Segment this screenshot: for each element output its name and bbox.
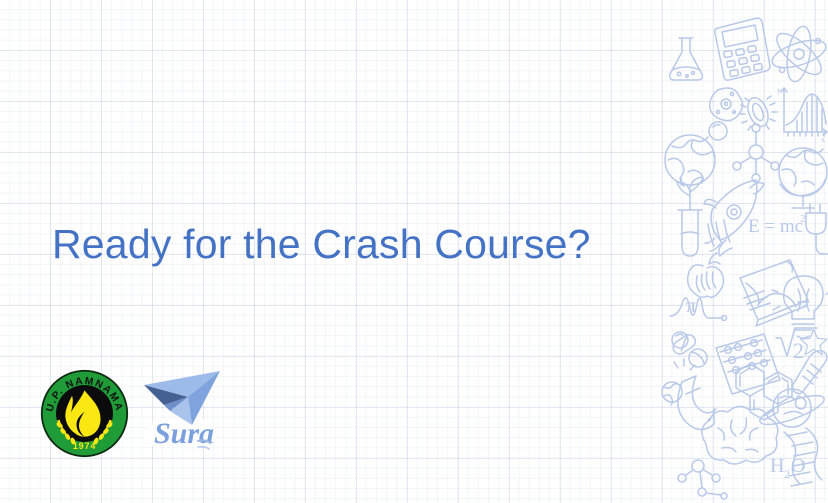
bell-curve-graph-icon: y x [777,86,827,144]
molecule-icon [733,124,779,182]
plug-icon [806,204,828,254]
svg-text:x: x [821,135,825,144]
doodle-strip-svg: y x [660,0,828,503]
test-tube-plant-icon [677,177,703,256]
emc2-formula-icon: E = mc 2 [748,213,806,237]
svg-text:H: H [770,455,784,477]
flask-icon [670,38,703,80]
seal-year-text: 1974 [73,441,96,451]
science-doodle-strip: y x [660,0,828,503]
sura-wordmark: Sura [154,417,214,450]
ecg-heartbeat-icon [670,298,727,321]
bubble-icon [709,122,727,140]
amoeba-icon [710,88,743,121]
atom-icon [769,25,828,84]
svg-text:E = mc: E = mc [748,216,803,237]
svg-text:y: y [777,86,781,95]
globe-icon [665,135,715,186]
slide-canvas: Ready for the Crash Course? U.P. NAMNAMA [0,0,828,503]
page-title: Ready for the Crash Course? [52,219,591,269]
sqrt2-symbol-icon: 2 [776,328,817,363]
logo-row: U.P. NAMNAMA [36,363,226,467]
namnama-seal-svg: U.P. NAMNAMA [40,369,129,458]
brain-icon [702,406,778,464]
namnama-logo: U.P. NAMNAMA [40,369,129,458]
notebook-icon [740,260,808,326]
abacus-icon [716,334,780,394]
h2o-formula-icon: H 2 O [770,455,805,481]
globe-stand-icon [779,148,827,208]
svg-text:2: 2 [793,338,804,363]
molecule-small-icon [678,460,727,499]
svg-text:O: O [791,455,805,477]
calculator-icon [715,18,770,80]
pills-icon [671,332,707,367]
sura-logo-svg: Sura [140,363,226,463]
falling-apple-icon [688,253,724,297]
sura-logo: Sura [140,363,226,463]
svg-text:2: 2 [784,467,790,481]
svg-text:2: 2 [800,213,806,225]
